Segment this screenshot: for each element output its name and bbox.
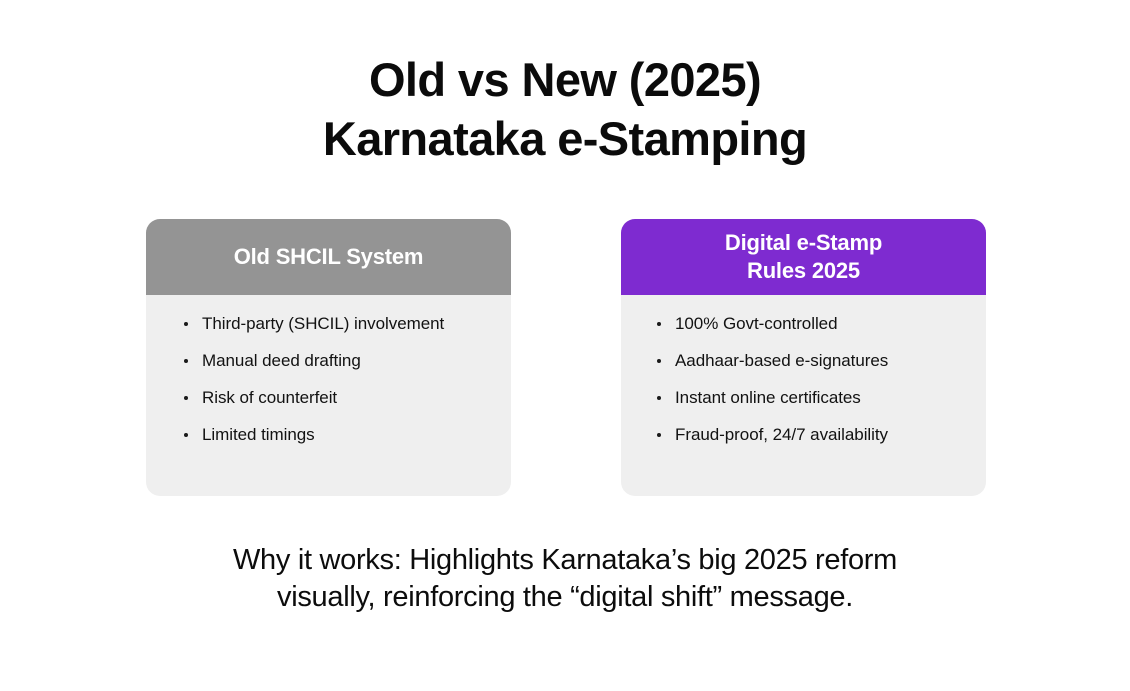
card-old-body: Third-party (SHCIL) involvement Manual d… xyxy=(146,295,511,496)
card-digital-estamp-rules-2025: Digital e-Stamp Rules 2025 100% Govt-con… xyxy=(621,219,986,496)
list-item: Instant online certificates xyxy=(657,387,966,409)
card-old-shcil-system: Old SHCIL System Third-party (SHCIL) inv… xyxy=(146,219,511,496)
title-line-2: Karnataka e-Stamping xyxy=(0,109,1130,168)
card-new-header-line-2: Rules 2025 xyxy=(747,258,860,283)
caption-line-1: Why it works: Highlights Karnataka’s big… xyxy=(0,542,1130,579)
list-item: Manual deed drafting xyxy=(184,350,491,372)
card-old-header-label: Old SHCIL System xyxy=(234,243,424,271)
old-system-bullet-list: Third-party (SHCIL) involvement Manual d… xyxy=(184,313,491,446)
list-item: Aadhaar-based e-signatures xyxy=(657,350,966,372)
list-item: Fraud-proof, 24/7 availability xyxy=(657,424,966,446)
slide-canvas: Old vs New (2025) Karnataka e-Stamping O… xyxy=(0,0,1130,691)
card-old-header: Old SHCIL System xyxy=(146,219,511,295)
title-line-1: Old vs New (2025) xyxy=(0,50,1130,109)
card-new-body: 100% Govt-controlled Aadhaar-based e-sig… xyxy=(621,295,986,496)
card-new-header-line-1: Digital e-Stamp xyxy=(725,230,882,255)
page-title: Old vs New (2025) Karnataka e-Stamping xyxy=(0,50,1130,168)
comparison-cards: Old SHCIL System Third-party (SHCIL) inv… xyxy=(146,219,986,496)
caption-line-2: visually, reinforcing the “digital shift… xyxy=(0,579,1130,616)
caption: Why it works: Highlights Karnataka’s big… xyxy=(0,542,1130,616)
card-new-header: Digital e-Stamp Rules 2025 xyxy=(621,219,986,295)
new-rules-bullet-list: 100% Govt-controlled Aadhaar-based e-sig… xyxy=(657,313,966,446)
list-item: Limited timings xyxy=(184,424,491,446)
list-item: Third-party (SHCIL) involvement xyxy=(184,313,491,335)
list-item: 100% Govt-controlled xyxy=(657,313,966,335)
list-item: Risk of counterfeit xyxy=(184,387,491,409)
card-new-header-label: Digital e-Stamp Rules 2025 xyxy=(725,229,882,285)
